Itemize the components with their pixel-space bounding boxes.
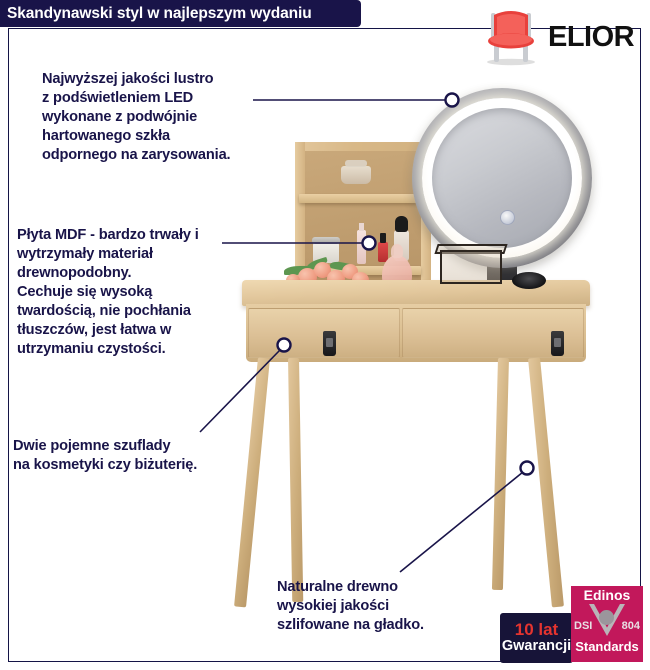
callout-text-mirror: Najwyższej jakości lustro z podświetleni… (42, 70, 312, 165)
edinos-title: Edinos (584, 588, 631, 602)
edinos-standards-badge: Edinos DSI 804 Standards (571, 586, 643, 662)
edinos-standards-label: Standards (575, 640, 639, 653)
callout-text-mdf: Płyta MDF - bardzo trwały i wytrzymały m… (17, 226, 285, 359)
callout-text-wood: Naturalne drewno wysokiej jakości szlifo… (277, 578, 507, 635)
warranty-badge: 10 lat Gwarancji (500, 613, 573, 663)
edinos-checkmark-icon: DSI 804 (571, 602, 643, 640)
warranty-years: 10 lat (515, 621, 558, 638)
edinos-left-code: DSI (574, 620, 592, 632)
edinos-right-code: 804 (622, 620, 640, 632)
warranty-label: Gwarancji (502, 638, 571, 655)
infographic-page: Skandynawski styl w najlepszym wydaniu E… (0, 0, 650, 670)
callout-text-drawers: Dwie pojemne szuflady na kosmetyki czy b… (13, 437, 273, 475)
